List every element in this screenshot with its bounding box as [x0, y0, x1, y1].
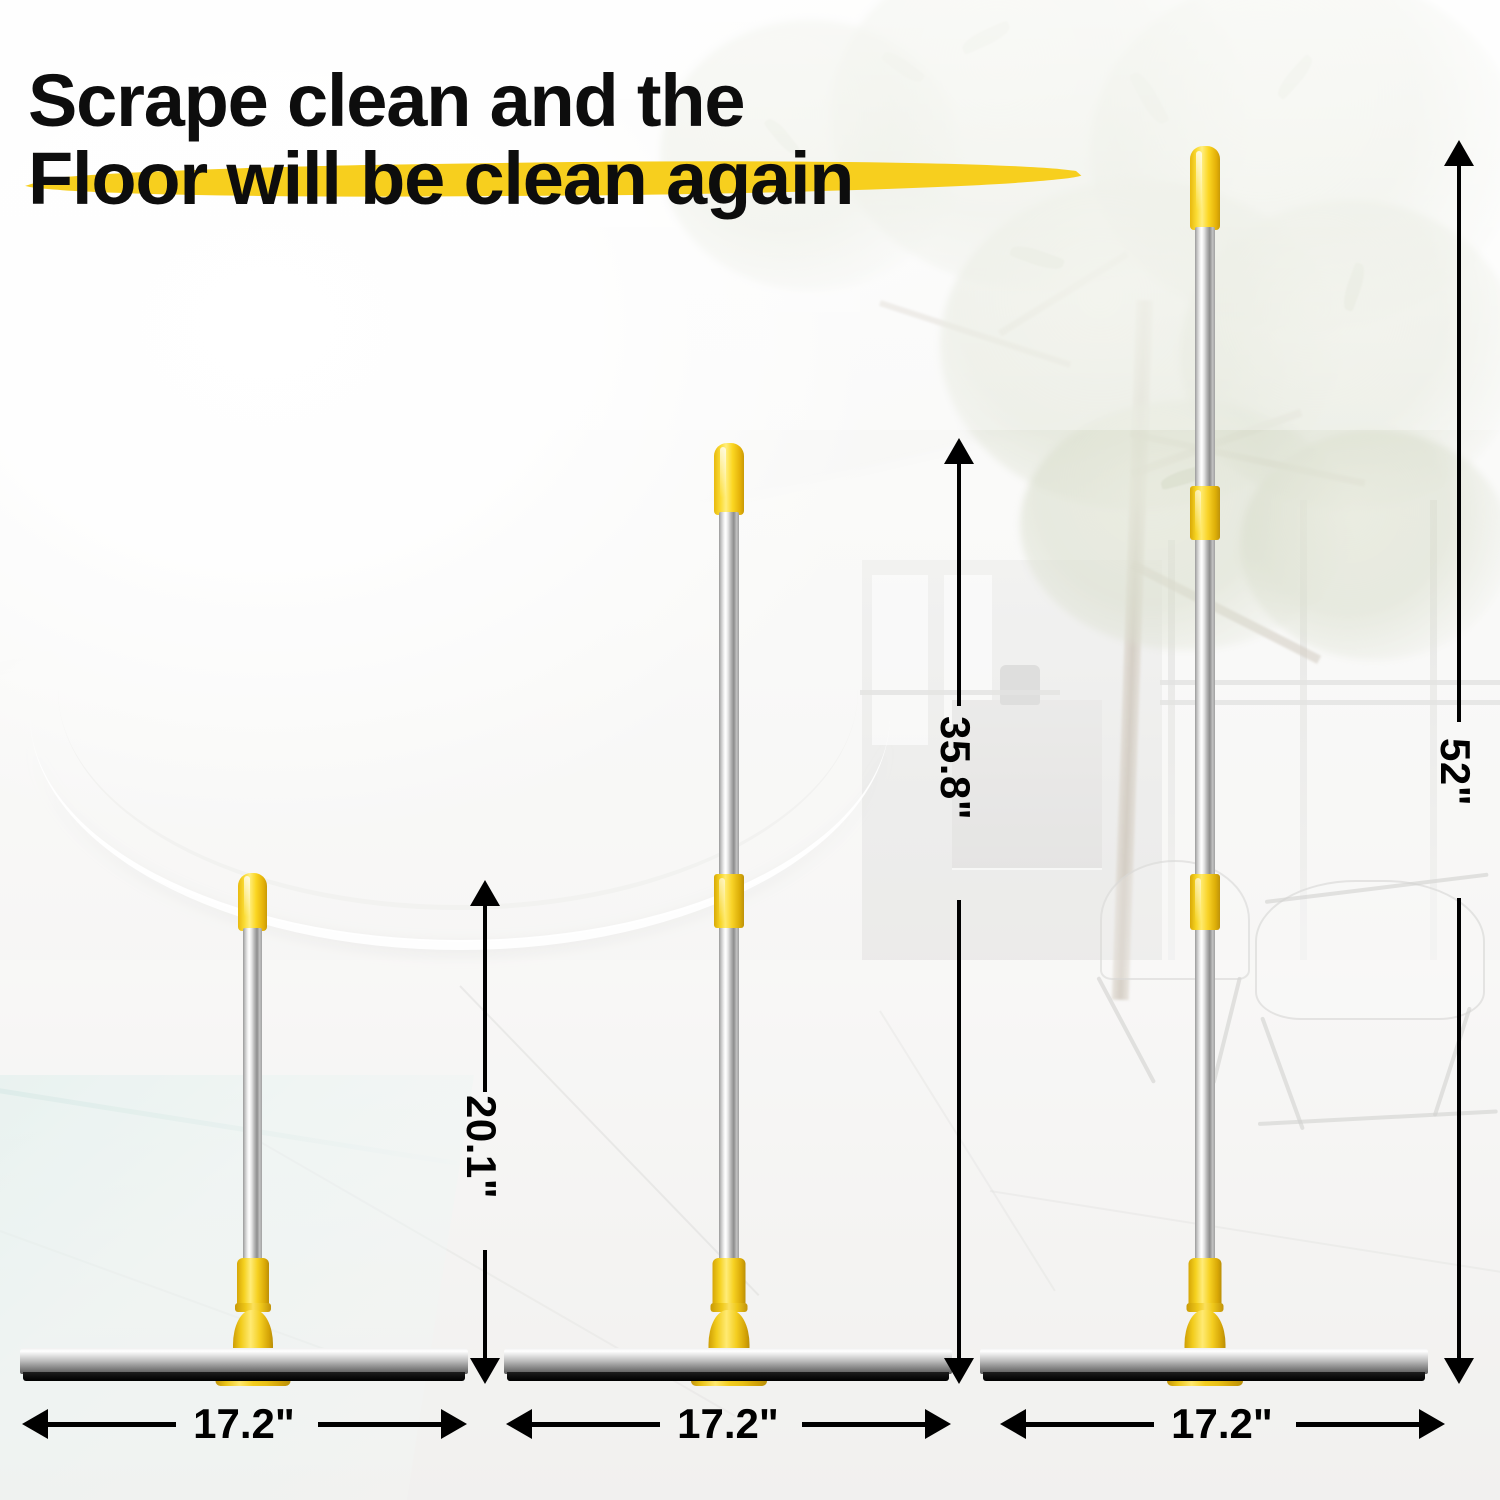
squeegee-tall-collar-lower	[1190, 874, 1220, 930]
dimension-width-short-arrow-right	[441, 1409, 467, 1439]
headline: Scrape clean and the Floor will be clean…	[28, 62, 1108, 219]
squeegee-short-blade-bar	[20, 1348, 468, 1374]
squeegee-medium-collar-lower	[714, 874, 744, 928]
squeegee-tall-grip-cap	[1190, 146, 1220, 230]
dimension-width-tall-line-left	[1024, 1422, 1154, 1427]
dimension-height-tall-line-top	[1457, 162, 1461, 722]
squeegee-short-head-neck	[237, 1258, 269, 1306]
dimension-height-short-arrow-bottom	[470, 1358, 500, 1384]
squeegee-medium-grip-cap	[714, 443, 744, 515]
dimension-height-tall-arrow-bottom	[1444, 1358, 1474, 1384]
dimension-width-short-label: 17.2"	[184, 1400, 304, 1448]
dimension-width-short-line-left	[46, 1422, 176, 1427]
dimension-width-medium-line-right	[802, 1422, 927, 1427]
dimension-width-tall-arrow-left	[1000, 1409, 1026, 1439]
dimension-width-tall-arrow-right	[1419, 1409, 1445, 1439]
dimension-width-medium-arrow-left	[506, 1409, 532, 1439]
squeegee-tall-blade-bar	[980, 1348, 1428, 1374]
dimension-height-medium-line-bottom	[957, 900, 961, 1360]
squeegee-short-blade-rubber	[23, 1372, 465, 1381]
dimension-height-short-line-top	[483, 902, 487, 1092]
dimension-height-tall-line-bottom	[1457, 898, 1461, 1360]
dimension-height-medium-arrow-bottom	[944, 1358, 974, 1384]
squeegee-tall-collar-upper	[1190, 486, 1220, 540]
squeegee-short-grip-cap	[238, 873, 267, 931]
headline-line-2: Floor will be clean again	[28, 140, 1108, 218]
infographic-canvas: Scrape clean and the Floor will be clean…	[0, 0, 1500, 1500]
squeegee-medium-blade-rubber	[507, 1372, 949, 1381]
squeegee-medium-head-neck	[713, 1258, 746, 1306]
dimension-width-medium-line-left	[530, 1422, 660, 1427]
squeegee-short-pole	[243, 928, 262, 1268]
dimension-width-short-line-right	[318, 1422, 443, 1427]
squeegee-tall-pole	[1195, 227, 1215, 1272]
squeegee-medium-blade-bar	[504, 1348, 952, 1374]
dimension-height-medium-label: 35.8"	[931, 716, 979, 820]
dimension-height-short-label: 20.1"	[457, 1095, 505, 1199]
dimension-height-short-line-bottom	[483, 1250, 487, 1360]
dimension-width-tall-line-right	[1296, 1422, 1421, 1427]
dimension-height-tall-label: 52"	[1431, 738, 1479, 806]
dimension-width-short-arrow-left	[22, 1409, 48, 1439]
dimension-width-medium-arrow-right	[925, 1409, 951, 1439]
dimension-height-medium-line-top	[957, 460, 961, 706]
dimension-width-medium-label: 17.2"	[668, 1400, 788, 1448]
squeegee-tall-blade-rubber	[983, 1372, 1425, 1381]
squeegee-tall-head-neck	[1189, 1258, 1222, 1306]
headline-line-1: Scrape clean and the	[28, 62, 1108, 140]
dimension-width-tall-label: 17.2"	[1162, 1400, 1282, 1448]
